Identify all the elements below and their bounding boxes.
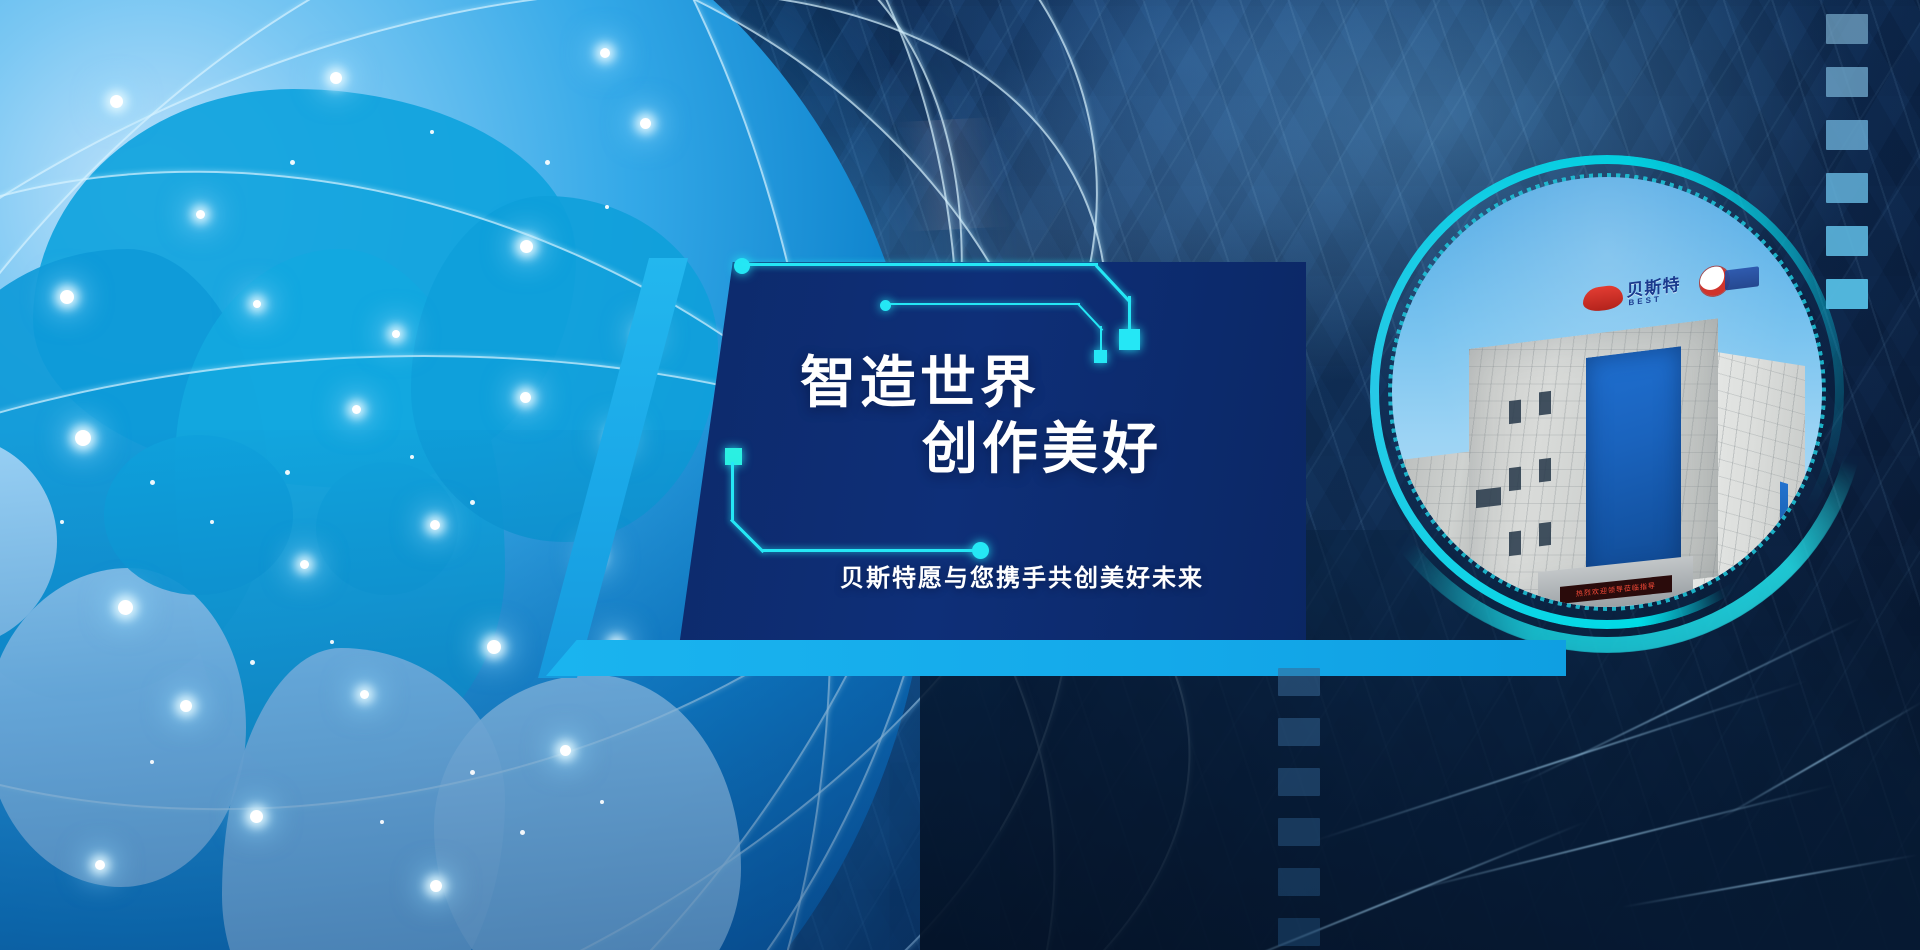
facet-edge-line xyxy=(1195,821,1585,950)
circuit-dot-upper xyxy=(734,258,750,274)
facet-edge-line xyxy=(1716,700,1920,822)
top-right-tick-bars xyxy=(1826,14,1868,309)
headline-line-1: 智造世界 xyxy=(800,351,1040,414)
circuit-dot-bottom xyxy=(972,542,989,559)
bar-3 xyxy=(1826,120,1868,150)
bar-4 xyxy=(1826,173,1868,203)
circuit-line-upper xyxy=(742,263,1098,266)
mbar-2 xyxy=(1278,718,1320,746)
glass-curtain-right xyxy=(1780,482,1788,586)
building-photo: 贝斯特 BEST 热烈欢迎领导莅临指导 xyxy=(1392,177,1822,607)
headline-text: 智造世界 创作美好 xyxy=(800,350,1320,482)
mbar-3 xyxy=(1278,768,1320,796)
sign-red-badge xyxy=(1583,285,1623,314)
secondary-sign-panel xyxy=(1726,266,1760,291)
mbar-4 xyxy=(1278,818,1320,846)
circuit-line-lower xyxy=(886,303,1080,305)
card-underline-bar xyxy=(546,640,1566,676)
tagline-text: 贝斯特愿与您携手共创美好未来 xyxy=(840,558,1204,593)
facet-edge-line xyxy=(1622,854,1918,908)
bar-1 xyxy=(1826,14,1868,44)
bar-2 xyxy=(1826,67,1868,97)
circuit-dot-lower xyxy=(880,300,891,311)
circuit-line-bottom xyxy=(762,549,984,552)
company-photo-circle: 贝斯特 BEST 热烈欢迎领导莅临指导 xyxy=(1392,177,1822,607)
mid-bottom-tick-bars xyxy=(1278,668,1320,946)
bar-6 xyxy=(1826,279,1868,309)
headline-line-2: 创作美好 xyxy=(800,416,1320,482)
mbar-5 xyxy=(1278,868,1320,896)
mbar-6 xyxy=(1278,918,1320,946)
facet-edge-line xyxy=(1312,680,1807,843)
circuit-terminal-upper xyxy=(1119,329,1140,350)
hero-banner: 贝斯特 BEST 热烈欢迎领导莅临指导 智造世界 创作美好 贝斯特愿与您携手共创… xyxy=(0,0,1920,950)
mbar-1 xyxy=(1278,668,1320,696)
bar-5 xyxy=(1826,226,1868,256)
circuit-riser-left xyxy=(731,462,734,520)
glass-curtain-main xyxy=(1586,346,1681,581)
